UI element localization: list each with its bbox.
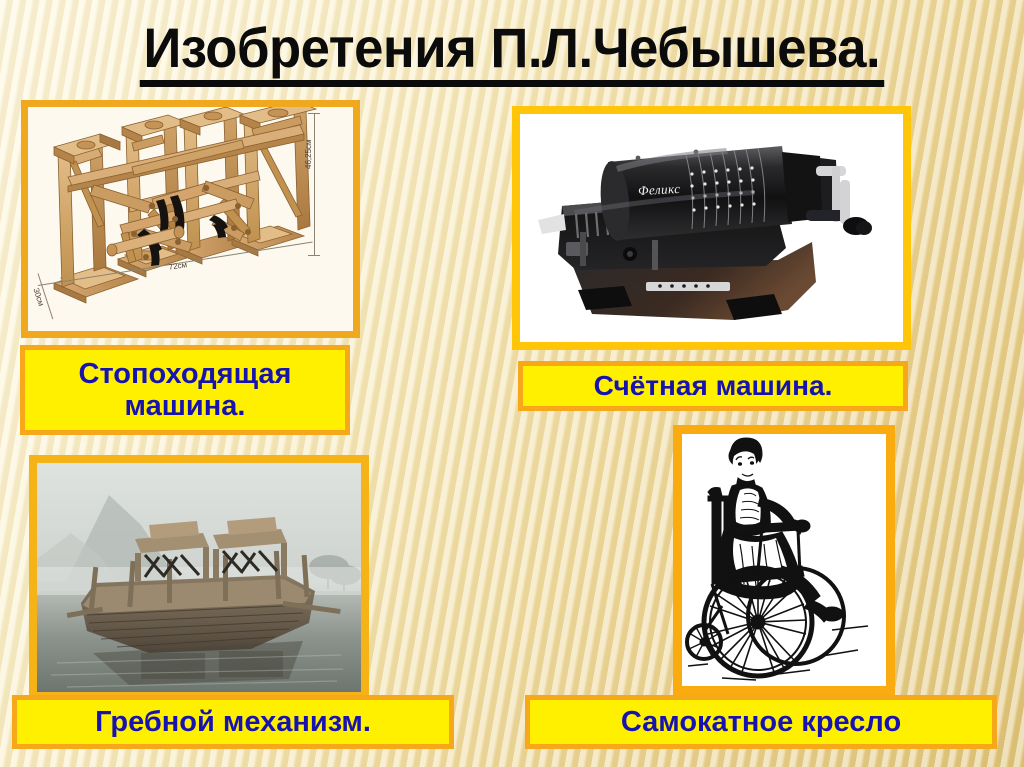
caption-walking-machine: Стопоходящая машина. (20, 345, 350, 435)
rowing-boat-drawing (37, 463, 361, 692)
caption-walking-machine-text: Стопоходящая машина. (25, 358, 345, 423)
page-title: Изобретения П.Л.Чебышева. (0, 18, 1024, 87)
caption-rowing-mechanism: Гребной механизм. (12, 695, 454, 749)
image-frame-walking-machine: 46,25см 72см 30см (21, 100, 360, 338)
self-propelled-chair-engraving (682, 434, 886, 686)
caption-rowing-mechanism-text: Гребной механизм. (17, 706, 449, 738)
arithmometer-drawing (520, 114, 903, 342)
calculator-brand-label: Феликс (638, 181, 681, 199)
image-frame-calculating-machine: Феликс (512, 106, 911, 350)
caption-self-propelled-chair: Самокатное кресло (525, 695, 997, 749)
wheelchair-engraving-drawing (682, 434, 886, 686)
dimension-tick-height-bottom (308, 255, 320, 256)
image-frame-self-propelled-chair (673, 425, 895, 695)
rowing-mechanism-photo (37, 463, 361, 692)
dimension-line-height (314, 113, 315, 255)
caption-calculating-machine-text: Счётная машина. (523, 370, 903, 401)
page-title-text: Изобретения П.Л.Чебышева. (140, 18, 884, 87)
dimension-label-height: 46,25см (304, 139, 313, 169)
slide-canvas: Изобретения П.Л.Чебышева. (0, 0, 1024, 767)
walking-machine-illustration: 46,25см 72см 30см (28, 107, 353, 331)
dimension-tick-height-top (308, 113, 320, 114)
image-frame-rowing-mechanism (29, 455, 369, 700)
calculating-machine-photo: Феликс (520, 114, 903, 342)
caption-self-propelled-chair-text: Самокатное кресло (530, 706, 992, 738)
caption-calculating-machine: Счётная машина. (518, 361, 908, 411)
